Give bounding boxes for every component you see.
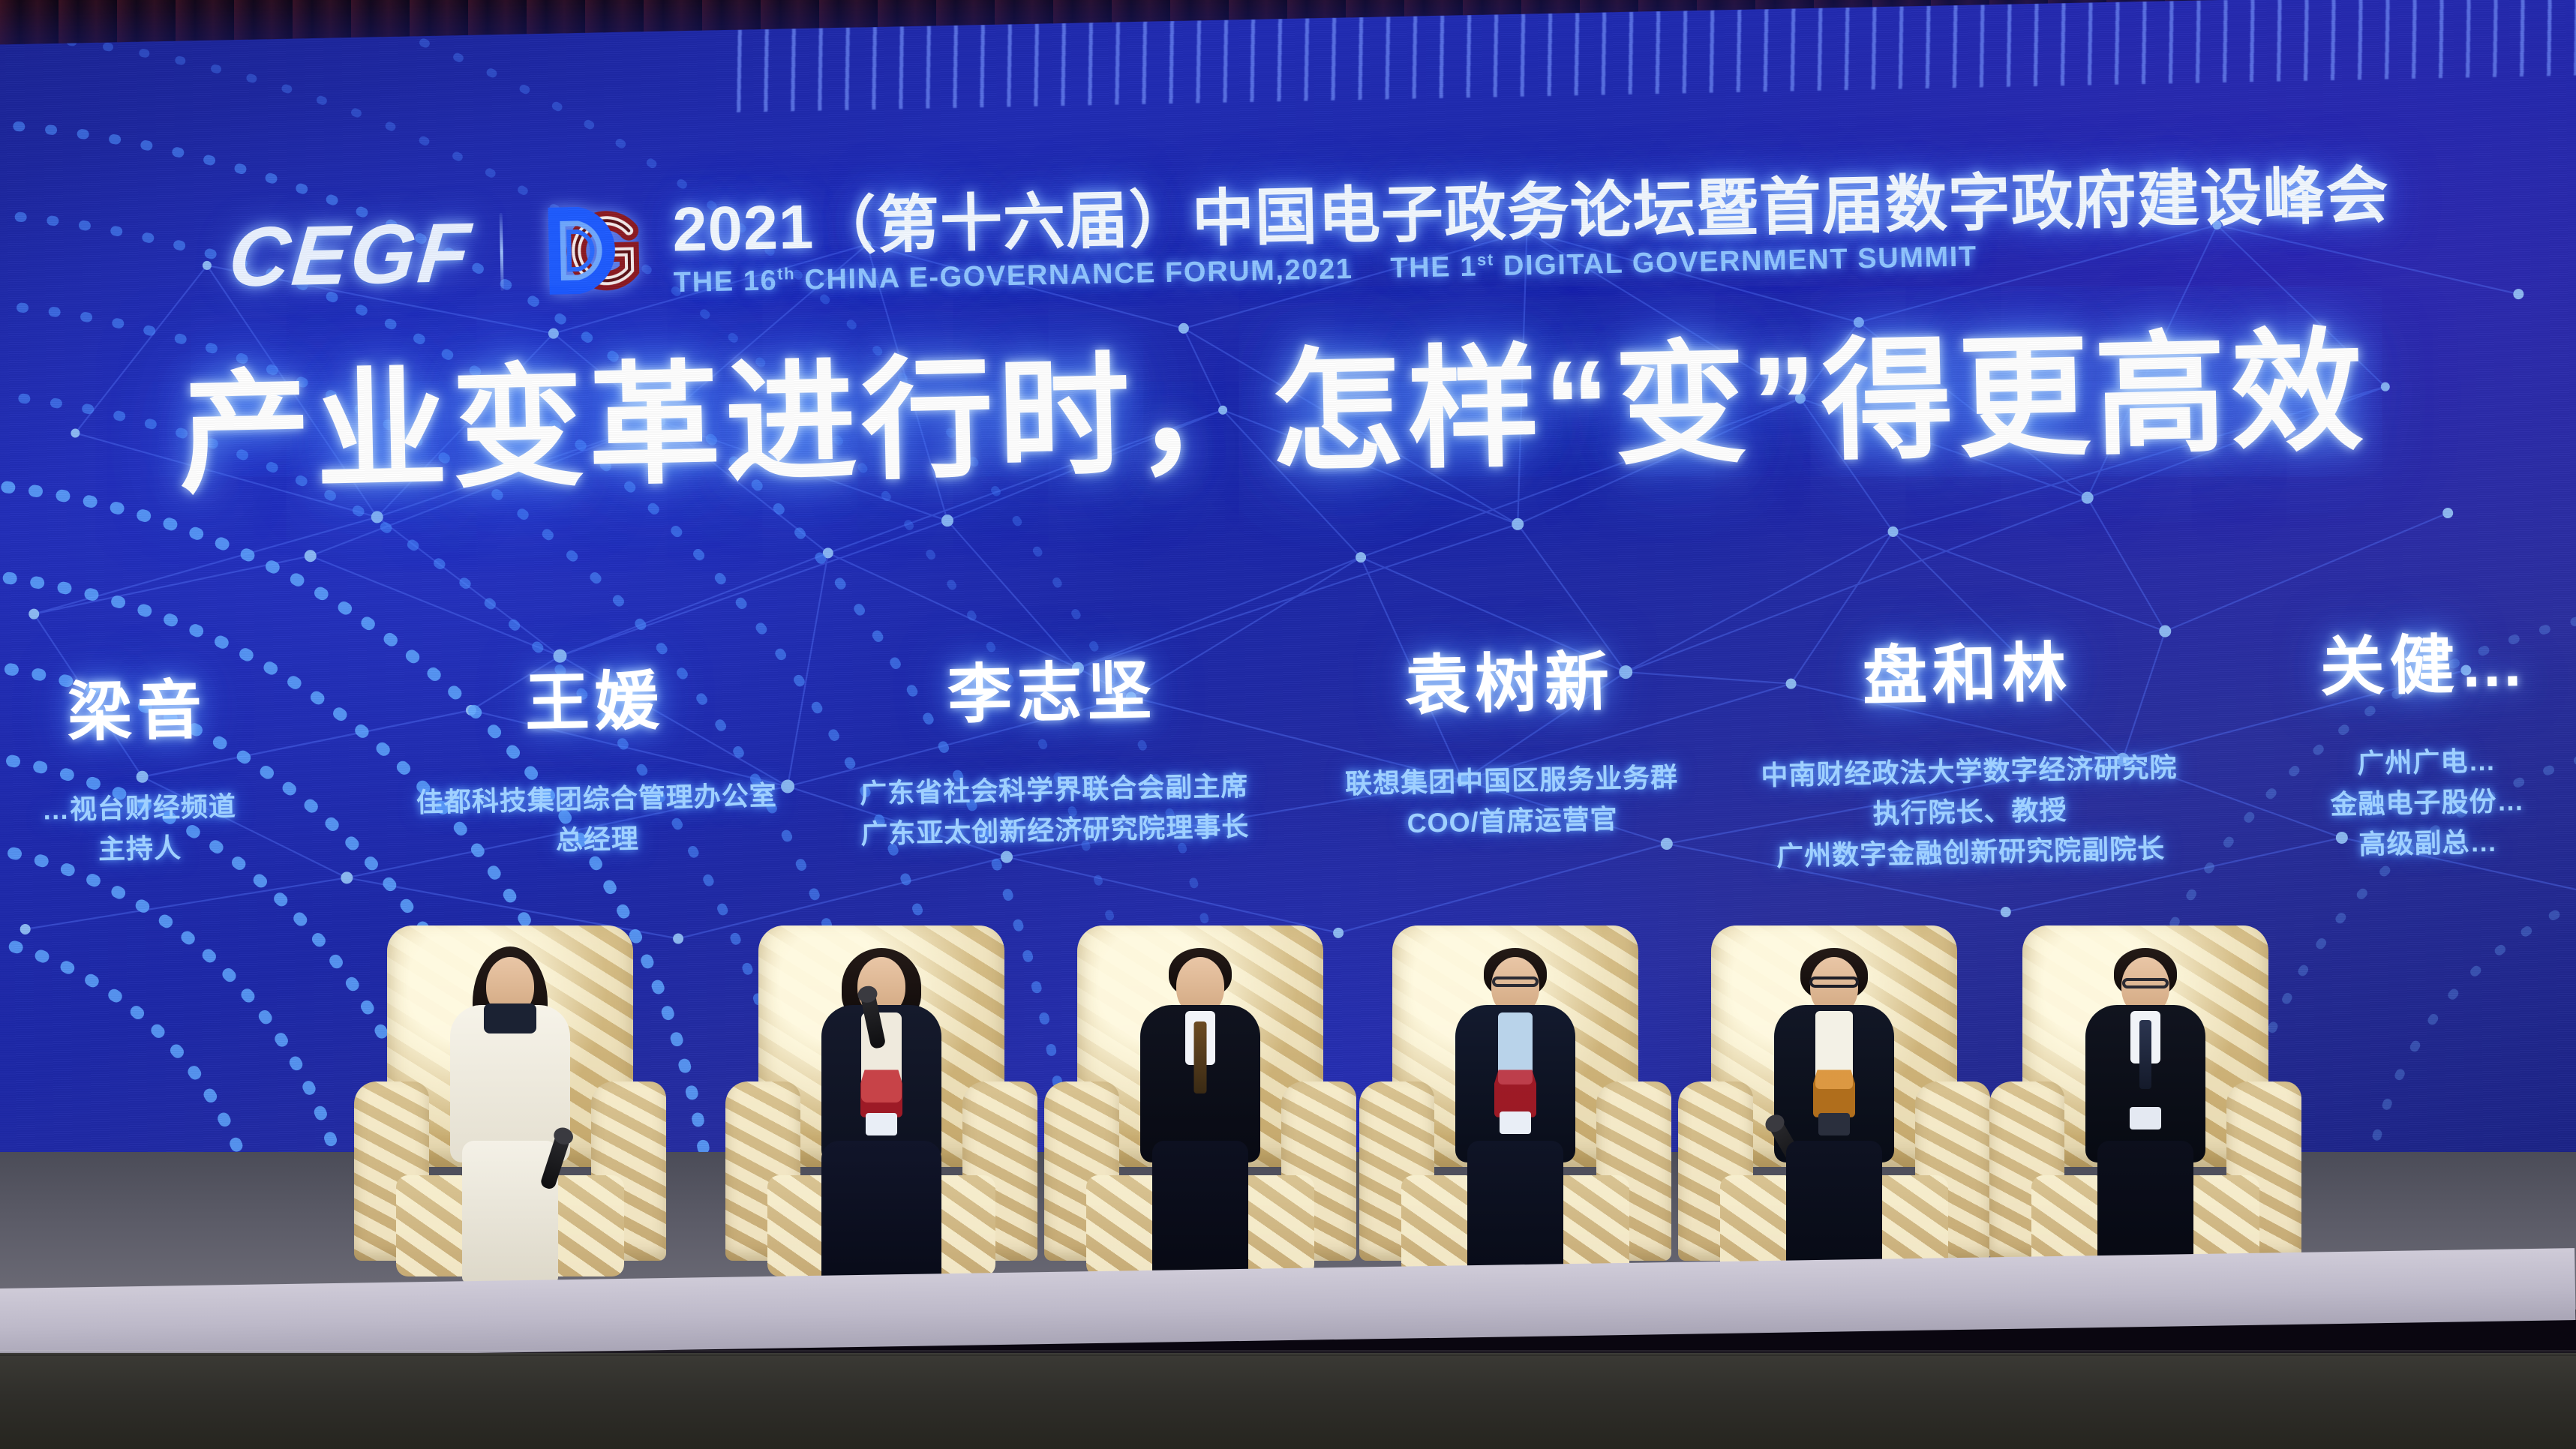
panelist-block-5: 盘和林 中南财经政法大学数字经济研究院 执行院长、教授 广州数字金融创新研究院副… [1737,634,2199,877]
panelist-figure-4 [1437,957,1593,1300]
necktie-3 [1194,1021,1207,1093]
badge-5 [1818,1113,1850,1135]
panelist-name-1: 梁音 [0,671,362,752]
stage-front-panel [0,1353,2576,1449]
seat-4 [1365,925,1665,1315]
panelist-title-6: 广州广电… 金融电子股份… 高级副总… [2202,738,2576,868]
panelist-figure-5 [1756,957,1912,1300]
panelist-title-3: 广东省社会科学界联合会副主席 广东亚太创新经济研究院理事长 [830,766,1280,856]
panelist-title-6-line-2: 金融电子股份… [2202,778,2576,828]
panelist-figure-3 [1122,957,1278,1300]
eyeglasses-6 [2122,978,2169,988]
panelist-block-1: 梁音 …视台财经频道 主持人 [0,671,369,874]
legs-3 [1152,1141,1248,1283]
legs-2 [821,1141,941,1283]
panelist-figure-2 [803,957,959,1300]
panelist-block-4: 袁树新 联想集团中国区服务业务群 COO/首席运营官 [1280,643,1742,847]
panelist-title-6-line-1: 广州广电… [2202,738,2576,787]
seat-2 [731,925,1031,1315]
panelist-figure-6 [2067,957,2223,1300]
legs-1 [462,1141,558,1283]
panelist-block-2: 王媛 佳都科技集团综合管理办公室 总经理 [365,662,827,865]
masthead-divider [500,213,504,291]
badge-2 [866,1113,897,1135]
dg-emblem-icon [531,197,646,303]
collar-1 [484,1003,536,1033]
panelist-name-6: 关健… [2199,625,2576,706]
panelist-title-3-line-2: 广东亚太创新经济研究院理事长 [830,806,1280,856]
conference-stage-scene: CEGF 2021（第十六届）中国电 [0,0,2576,1449]
panelist-block-3: 李志坚 广东省社会科学界联合会副主席 广东亚太创新经济研究院理事长 [823,652,1284,856]
panelist-name-4: 袁树新 [1285,643,1735,724]
seat-3 [1050,925,1350,1315]
event-title-block: 2021（第十六届）中国电子政务论坛暨首届数字政府建设峰会 THE 16th C… [672,163,2391,299]
cegf-logo-text: CEGF [226,211,476,300]
panel-seating-row [0,850,2576,1315]
panelist-name-2: 王媛 [370,662,820,743]
panelist-name-5: 盘和林 [1742,634,2192,715]
panelist-name-3: 李志坚 [827,652,1277,733]
panelist-block-6: 关健… 广州广电… 金融电子股份… 高级副总… [2195,625,2576,868]
legs-4 [1467,1141,1563,1283]
eyeglasses-4 [1492,976,1539,987]
badge-4 [1500,1111,1531,1134]
eyeglasses-5 [1809,976,1859,988]
seat-1 [360,925,660,1315]
necktie-6 [2139,1020,2151,1089]
badge-6 [2130,1107,2161,1129]
seat-5 [1684,925,1984,1315]
panelist-title-4: 联想集团中国区服务业务群 COO/首席运营官 [1287,756,1737,846]
panelist-figure-1 [432,957,588,1300]
